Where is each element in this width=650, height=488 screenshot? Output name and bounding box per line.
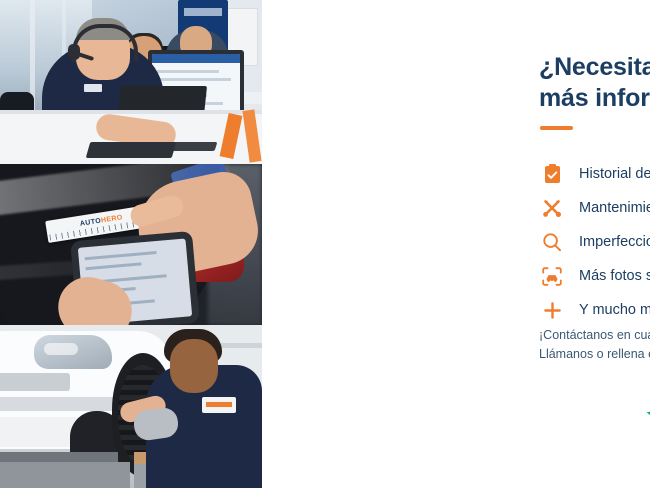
feature-label: Mantenimiento realizado (579, 200, 650, 216)
page-title-line-1: ¿Necesitas (539, 52, 650, 83)
monitor-screen-row (157, 70, 219, 73)
tools-cross-icon (539, 196, 565, 220)
feature-item-more-photos: Más fotos sobre el coche (539, 260, 650, 292)
mechanic-logo-badge (202, 397, 236, 413)
feature-label: Y mucho más (579, 302, 650, 318)
keyboard (86, 142, 177, 158)
clipboard-check-icon (539, 162, 565, 186)
page-title: ¿Necesitas más información? (539, 52, 650, 113)
mechanic-head (170, 339, 218, 393)
feature-item-maintenance-history: Historial de mantenimientos (539, 158, 650, 190)
magnifier-icon (539, 230, 565, 254)
feature-item-maintenance-done: Mantenimiento realizado (539, 192, 650, 224)
feature-label: Imperfecciones (579, 234, 650, 250)
tablet-screen-row (86, 262, 142, 270)
lift-base (0, 462, 130, 488)
car-grille-upper (0, 373, 70, 391)
photo-column: AUTOHERO (0, 0, 262, 488)
feature-item-much-more: Y mucho más (539, 294, 650, 326)
title-underline (540, 126, 573, 130)
tablet-screen-row (85, 251, 157, 260)
contact-paragraph-line-2: Llámanos o rellena el formulario de cont… (539, 345, 650, 364)
car-grille-lower (0, 397, 116, 411)
monitor-screen-row (157, 78, 231, 81)
car-headlight (34, 335, 112, 369)
plus-icon (539, 298, 565, 322)
agent-name-badge (84, 84, 102, 92)
trustpilot-logo: Trustpilot (646, 403, 650, 426)
information-banner: AUTOHERO (0, 0, 650, 488)
photo-car-inspection: AUTOHERO (0, 164, 262, 325)
feature-label: Historial de mantenimientos (579, 166, 650, 182)
contact-paragraph: ¡Contáctanos en cualquier momento para m… (539, 326, 650, 365)
lift-arm (0, 452, 118, 462)
feature-label: Más fotos sobre el coche (579, 268, 650, 284)
trustpilot-star-icon (646, 404, 650, 425)
monitor-screen-header (152, 54, 240, 63)
photo-mechanic-wheel (0, 325, 262, 488)
photo-call-center (0, 0, 262, 164)
trustpilot-widget[interactable]: Trustpilot Excelente EMPRESA VERIFICADA (646, 389, 650, 455)
contact-paragraph-line-1: ¡Contáctanos en cualquier momento para m… (539, 326, 650, 345)
page-title-line-2: más información? (539, 83, 650, 114)
feature-item-imperfections: Imperfecciones (539, 226, 650, 258)
content-panel: ¿Necesitas más información? Estamos enca… (262, 0, 650, 488)
car-frame-icon (539, 264, 565, 288)
feature-list: Historial de mantenimientos M (539, 158, 650, 328)
